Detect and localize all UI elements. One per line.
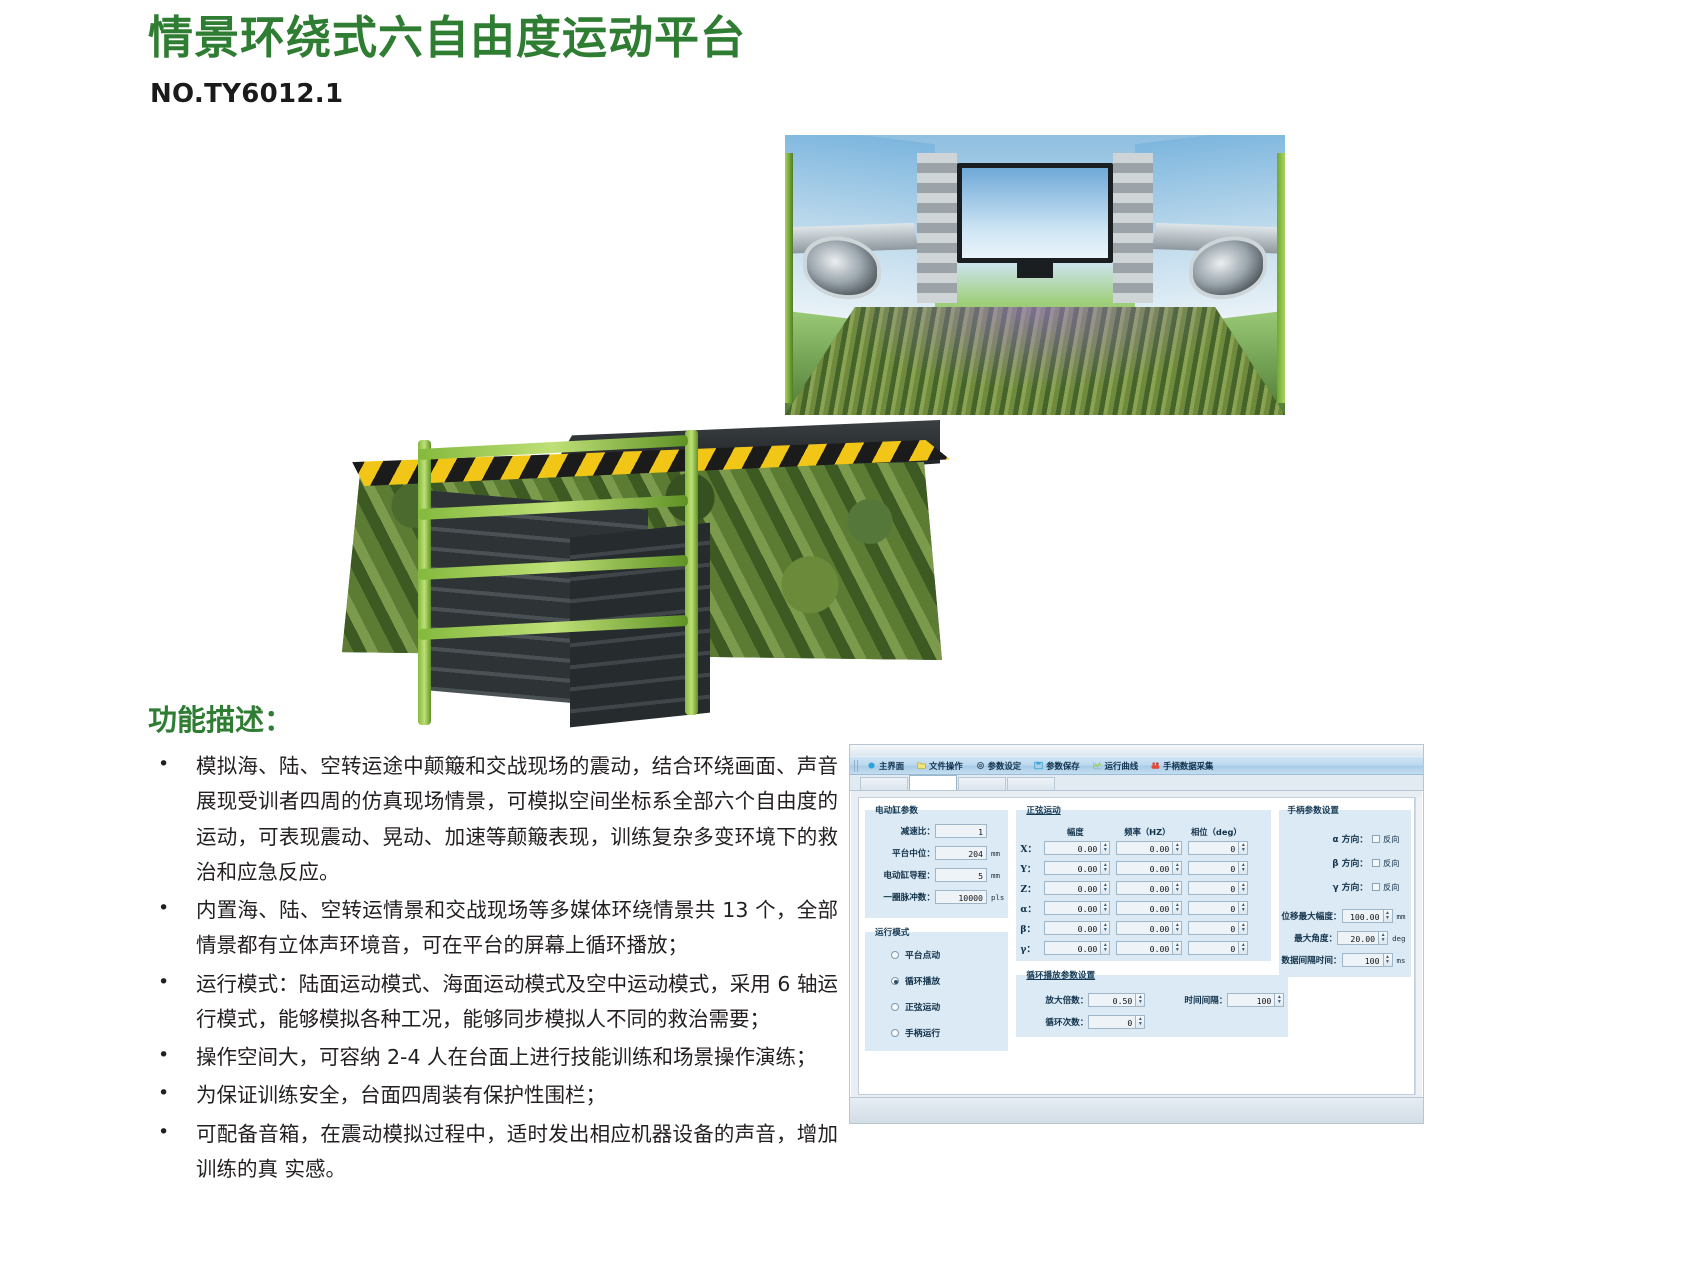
phase-value[interactable]: 0: [1188, 881, 1239, 895]
center-screen: [957, 163, 1113, 263]
rail-top-bar: [418, 435, 688, 460]
frequency-value[interactable]: 0.00: [1116, 841, 1173, 855]
frequency-value[interactable]: 0.00: [1116, 941, 1173, 955]
radio-label: 正弦运动: [905, 1000, 940, 1013]
vertical-scrollbar[interactable]: [1415, 797, 1422, 1095]
joystick-icon: [1151, 761, 1160, 770]
field-label: 减速比：: [869, 825, 935, 837]
sine-motion-group: 正弦运动 幅度 频率（HZ） 相位（deg） X： 0.00▲▼ 0.00▲▼ …: [1016, 804, 1271, 961]
radio-label: 手柄运行: [905, 1026, 940, 1039]
spinner-icon[interactable]: ▲▼: [1101, 881, 1110, 895]
toolbar-item-run-curve[interactable]: 运行曲线: [1088, 759, 1144, 773]
frequency-stepper[interactable]: 0.00▲▼: [1116, 901, 1182, 915]
checkbox-label: 反向: [1383, 881, 1399, 893]
rail-post-left: [418, 440, 431, 725]
field-pulses-per-revolution: 一圈脉冲数： 10000 pls: [869, 890, 1004, 904]
list-item: 模拟海、陆、空转运途中颠簸和交战现场的震动，结合环绕画面、声音展现受训者四周的仿…: [148, 749, 838, 890]
field-label: 平台中位：: [869, 847, 935, 859]
spinner-icon[interactable]: ▲▼: [1173, 941, 1182, 955]
column-header-amplitude: 幅度: [1042, 826, 1108, 838]
amplitude-stepper[interactable]: 0.00▲▼: [1044, 841, 1110, 855]
list-item: 运行模式：陆面运动模式、海面运动模式及空中运动模式，采用 6 轴运行模式，能够模…: [148, 967, 838, 1038]
checkbox-label: 反向: [1383, 857, 1399, 869]
axis-label: Y：: [1020, 861, 1038, 875]
loop-params-legend: 循环播放参数设置: [1024, 969, 1097, 981]
radio-indicator: [891, 1029, 899, 1037]
spinner-icon[interactable]: ▲▼: [1101, 941, 1110, 955]
phase-stepper[interactable]: 0▲▼: [1188, 941, 1248, 955]
tab-1[interactable]: [860, 777, 908, 790]
radio-indicator: [891, 951, 899, 959]
app-content-area: 电动缸参数 减速比： 1 平台中位： 204 mm 电动缸导程： 5 mm: [858, 797, 1415, 1095]
field-unit: pls: [991, 893, 1004, 902]
left-screen: [785, 135, 935, 329]
spinner-icon[interactable]: ▲▼: [1239, 881, 1248, 895]
right-column: 手柄参数设置 α 方向： 反向 β 方向： 反向 γ 方向： 反向: [1279, 804, 1411, 1088]
model-number: NO.TY6012.1: [150, 79, 746, 109]
checkbox-beta-reverse[interactable]: β 方向： 反向: [1281, 856, 1399, 869]
spinner-icon[interactable]: ▲▼: [1173, 841, 1182, 855]
save-icon: [1034, 761, 1043, 770]
spinner-icon[interactable]: ▲▼: [1379, 931, 1388, 945]
frequency-stepper[interactable]: 0.00▲▼: [1116, 881, 1182, 895]
toolbar-label: 主界面: [879, 760, 904, 772]
table-row: β： 0.00▲▼ 0.00▲▼ 0▲▼: [1020, 921, 1267, 935]
checkbox-label: 反向: [1383, 833, 1399, 845]
spinner-icon[interactable]: ▲▼: [1239, 861, 1248, 875]
field-data-interval-time: 数据间隔时间： 100▲▼ ms: [1281, 953, 1405, 967]
list-item: 可配备音箱，在震动模拟过程中，适时发出相应机器设备的声音，增加训练的真 实感。: [148, 1117, 838, 1188]
rail-post-right: [685, 430, 698, 715]
spinner-icon[interactable]: ▲▼: [1239, 921, 1248, 935]
field-reduction-ratio: 减速比： 1: [869, 824, 1004, 838]
toolbar-item-joystick-capture[interactable]: 手柄数据采集: [1146, 759, 1218, 773]
function-description-heading: 功能描述：: [148, 697, 838, 739]
axis-label: X：: [1020, 841, 1038, 855]
toolbar-label: 运行曲线: [1105, 760, 1139, 772]
toolbar-label: 参数设定: [988, 760, 1022, 772]
field-value[interactable]: 0.50: [1088, 993, 1136, 1007]
field-label: 循环次数：: [1026, 1016, 1088, 1028]
list-item: 为保证训练安全，台面四周装有保护性围栏；: [148, 1078, 838, 1113]
direction-label: γ 方向：: [1333, 880, 1368, 893]
spinner-icon[interactable]: ▲▼: [1173, 881, 1182, 895]
list-item: 内置海、陆、空转运情景和交战现场等多媒体环绕情景共 13 个，全部情景都有立体声…: [148, 893, 838, 964]
phase-value[interactable]: 0: [1188, 941, 1239, 955]
amplitude-stepper[interactable]: 0.00▲▼: [1044, 901, 1110, 915]
field-value[interactable]: 10000: [935, 890, 987, 904]
axis-label: α：: [1020, 901, 1038, 915]
toolbar-item-main-screen[interactable]: 主界面: [862, 759, 909, 773]
field-unit: ms: [1397, 956, 1406, 965]
field-value[interactable]: 204: [935, 846, 987, 860]
loop-row-1: 放大倍数： 0.50▲▼ 时间间隔： 100▲▼: [1026, 993, 1284, 1007]
axis-label: β：: [1020, 921, 1038, 935]
spinner-icon[interactable]: ▲▼: [1239, 901, 1248, 915]
control-software-window: 主界面 文件操作 参数设定 参数保存: [849, 744, 1424, 1124]
radio-label: 循环播放: [905, 974, 940, 987]
interval-stepper[interactable]: 100▲▼: [1227, 993, 1284, 1007]
amplitude-value[interactable]: 0.00: [1044, 921, 1101, 935]
app-toolbar: 主界面 文件操作 参数设定 参数保存: [850, 756, 1423, 775]
loop-row-2: 循环次数： 0▲▼: [1026, 1015, 1284, 1029]
amplitude-stepper[interactable]: 0.00▲▼: [1044, 881, 1110, 895]
radio-sine-motion[interactable]: 正弦运动: [891, 1000, 1004, 1013]
field-value[interactable]: 100.00: [1342, 909, 1384, 923]
table-row: α： 0.00▲▼ 0.00▲▼ 0▲▼: [1020, 901, 1267, 915]
phase-value[interactable]: 0: [1188, 841, 1239, 855]
phase-stepper[interactable]: 0▲▼: [1188, 841, 1248, 855]
tab-4[interactable]: [1007, 777, 1055, 790]
phase-stepper[interactable]: 0▲▼: [1188, 921, 1248, 935]
field-unit: mm: [991, 849, 1000, 858]
field-unit: mm: [1397, 912, 1406, 921]
radio-platform-jog[interactable]: 平台点动: [891, 948, 1004, 961]
spinner-icon[interactable]: ▲▼: [1384, 909, 1393, 923]
status-bar: [850, 1097, 1423, 1123]
radio-indicator: [891, 1003, 899, 1011]
right-screen: [1135, 135, 1285, 329]
frequency-value[interactable]: 0.00: [1116, 861, 1173, 875]
sine-column-headers: 幅度 频率（HZ） 相位（deg）: [1042, 826, 1267, 838]
column-header-frequency: 频率（HZ）: [1114, 826, 1180, 838]
loop-params-group: 循环播放参数设置 放大倍数： 0.50▲▼ 时间间隔： 100▲▼ 循环次数： …: [1016, 969, 1288, 1037]
field-label: 最大角度：: [1294, 932, 1337, 944]
page-header: 情景环绕式六自由度运动平台 NO.TY6012.1: [148, 14, 746, 109]
field-label: 时间间隔：: [1161, 994, 1227, 1006]
column-header-phase: 相位（deg）: [1186, 826, 1246, 838]
axis-label: Z：: [1020, 881, 1038, 895]
spinner-icon[interactable]: ▲▼: [1173, 901, 1182, 915]
frequency-stepper[interactable]: 0.00▲▼: [1116, 861, 1182, 875]
field-value[interactable]: 5: [935, 868, 987, 882]
sine-motion-legend: 正弦运动: [1024, 804, 1062, 816]
max-displacement-stepper[interactable]: 100.00▲▼: [1342, 909, 1393, 923]
green-frame-post-right: [1277, 153, 1285, 403]
spinner-icon[interactable]: ▲▼: [1173, 921, 1182, 935]
safety-handrail: [380, 440, 740, 740]
tab-2[interactable]: [909, 775, 957, 790]
spinner-icon[interactable]: ▲▼: [1384, 953, 1393, 967]
field-label: 位移最大幅度：: [1281, 910, 1341, 922]
axis-label: γ：: [1020, 941, 1038, 955]
phase-value[interactable]: 0: [1188, 861, 1239, 875]
chart-line-icon: [1093, 761, 1102, 770]
run-mode-group: 运行模式 平台点动 循环播放 正弦运动 手柄运行: [865, 926, 1008, 1051]
table-row: X： 0.00▲▼ 0.00▲▼ 0▲▼: [1020, 841, 1267, 855]
spinner-icon[interactable]: ▲▼: [1101, 841, 1110, 855]
page-title: 情景环绕式六自由度运动平台: [148, 14, 746, 61]
amplitude-value[interactable]: 0.00: [1044, 881, 1101, 895]
field-label: 放大倍数：: [1026, 994, 1088, 1006]
amplitude-value[interactable]: 0.00: [1044, 861, 1101, 875]
field-max-angle: 最大角度： 20.00▲▼ deg: [1281, 931, 1405, 945]
spinner-icon[interactable]: ▲▼: [1239, 941, 1248, 955]
amplitude-stepper[interactable]: 0.00▲▼: [1044, 921, 1110, 935]
radio-label: 平台点动: [905, 948, 940, 961]
spinner-icon[interactable]: ▲▼: [1136, 1015, 1145, 1029]
phase-value[interactable]: 0: [1188, 901, 1239, 915]
surround-screens-photo: [785, 135, 1285, 415]
frequency-value[interactable]: 0.00: [1116, 921, 1173, 935]
toolbar-item-param-setting[interactable]: 参数设定: [971, 759, 1027, 773]
frequency-value[interactable]: 0.00: [1116, 881, 1173, 895]
field-unit: deg: [1392, 934, 1405, 943]
field-value[interactable]: 20.00: [1337, 931, 1379, 945]
field-label: 电动缸导程：: [869, 869, 935, 881]
field-value[interactable]: 100: [1342, 953, 1384, 967]
checkbox-icon[interactable]: [1372, 883, 1380, 891]
function-description-section: 功能描述： 模拟海、陆、空转运途中颠簸和交战现场的震动，结合环绕画面、声音展现受…: [148, 697, 838, 1190]
screen-pillar-right: [1113, 153, 1153, 303]
table-row: Z： 0.00▲▼ 0.00▲▼ 0▲▼: [1020, 881, 1267, 895]
field-platform-midpoint: 平台中位： 204 mm: [869, 846, 1004, 860]
field-label: 数据间隔时间：: [1281, 954, 1341, 966]
tab-strip: [850, 775, 1423, 791]
checkbox-icon[interactable]: [1372, 835, 1380, 843]
cylinder-params-legend: 电动缸参数: [873, 804, 920, 816]
field-value[interactable]: 100: [1227, 993, 1275, 1007]
window-title-bar: [850, 745, 1423, 756]
radio-loop-playback[interactable]: 循环播放: [891, 974, 1004, 987]
amplitude-value[interactable]: 0.00: [1044, 941, 1101, 955]
gear-icon: [976, 761, 985, 770]
home-dot-icon: [867, 761, 876, 770]
field-value[interactable]: 1: [935, 824, 987, 838]
toolbar-drag-handle[interactable]: [854, 760, 859, 772]
amplitude-stepper[interactable]: 0.00▲▼: [1044, 941, 1110, 955]
phase-stepper[interactable]: 0▲▼: [1188, 881, 1248, 895]
toolbar-item-param-save[interactable]: 参数保存: [1029, 759, 1085, 773]
cylinder-params-group: 电动缸参数 减速比： 1 平台中位： 204 mm 电动缸导程： 5 mm: [865, 804, 1008, 918]
handle-params-legend: 手柄参数设置: [1285, 804, 1341, 816]
field-cylinder-lead: 电动缸导程： 5 mm: [869, 868, 1004, 882]
frequency-stepper[interactable]: 0.00▲▼: [1116, 921, 1182, 935]
radio-indicator: [891, 977, 899, 985]
field-value[interactable]: 0: [1088, 1015, 1136, 1029]
handle-params-group: 手柄参数设置 α 方向： 反向 β 方向： 反向 γ 方向： 反向: [1279, 804, 1411, 977]
folder-icon: [917, 761, 926, 770]
function-bullet-list: 模拟海、陆、空转运途中颠簸和交战现场的震动，结合环绕画面、声音展现受训者四周的仿…: [148, 749, 838, 1187]
toolbar-label: 参数保存: [1046, 760, 1080, 772]
checkbox-alpha-reverse[interactable]: α 方向： 反向: [1281, 832, 1399, 845]
middle-column: 正弦运动 幅度 频率（HZ） 相位（deg） X： 0.00▲▼ 0.00▲▼ …: [1016, 804, 1271, 1088]
amplitude-stepper[interactable]: 0.00▲▼: [1044, 861, 1110, 875]
list-item: 操作空间大，可容纳 2-4 人在台面上进行技能训练和场景操作演练；: [148, 1040, 838, 1075]
phase-value[interactable]: 0: [1188, 921, 1239, 935]
checkbox-gamma-reverse[interactable]: γ 方向： 反向: [1281, 880, 1399, 893]
data-interval-stepper[interactable]: 100▲▼: [1342, 953, 1393, 967]
toolbar-item-file-ops[interactable]: 文件操作: [912, 759, 968, 773]
max-angle-stepper[interactable]: 20.00▲▼: [1337, 931, 1388, 945]
spinner-icon[interactable]: ▲▼: [1101, 921, 1110, 935]
table-row: γ： 0.00▲▼ 0.00▲▼ 0▲▼: [1020, 941, 1267, 955]
frequency-value[interactable]: 0.00: [1116, 901, 1173, 915]
run-mode-legend: 运行模式: [873, 926, 911, 938]
spinner-icon[interactable]: ▲▼: [1136, 993, 1145, 1007]
spinner-icon[interactable]: ▲▼: [1101, 861, 1110, 875]
magnification-stepper[interactable]: 0.50▲▼: [1088, 993, 1145, 1007]
motion-platform-photo: [320, 420, 960, 660]
direction-label: β 方向：: [1332, 856, 1368, 869]
product-photo: [310, 130, 1310, 670]
direction-label: α 方向：: [1333, 832, 1369, 845]
amplitude-value[interactable]: 0.00: [1044, 841, 1101, 855]
phase-stepper[interactable]: 0▲▼: [1188, 861, 1248, 875]
phase-stepper[interactable]: 0▲▼: [1188, 901, 1248, 915]
field-unit: mm: [991, 871, 1000, 880]
spinner-icon[interactable]: ▲▼: [1101, 901, 1110, 915]
left-column: 电动缸参数 减速比： 1 平台中位： 204 mm 电动缸导程： 5 mm: [865, 804, 1008, 1088]
frequency-stepper[interactable]: 0.00▲▼: [1116, 841, 1182, 855]
toolbar-label: 文件操作: [929, 760, 963, 772]
toolbar-label: 手柄数据采集: [1163, 760, 1213, 772]
spinner-icon[interactable]: ▲▼: [1239, 841, 1248, 855]
frequency-stepper[interactable]: 0.00▲▼: [1116, 941, 1182, 955]
amplitude-value[interactable]: 0.00: [1044, 901, 1101, 915]
table-row: Y： 0.00▲▼ 0.00▲▼ 0▲▼: [1020, 861, 1267, 875]
grass-floor-projection: [785, 307, 1285, 415]
spinner-icon[interactable]: ▲▼: [1173, 861, 1182, 875]
green-frame-post-left: [785, 153, 793, 403]
screen-pillar-left: [917, 153, 957, 303]
radio-joystick-run[interactable]: 手柄运行: [891, 1026, 1004, 1039]
loop-count-stepper[interactable]: 0▲▼: [1088, 1015, 1145, 1029]
checkbox-icon[interactable]: [1372, 859, 1380, 867]
tab-3[interactable]: [958, 777, 1006, 790]
field-label: 一圈脉冲数：: [869, 891, 935, 903]
field-max-displacement: 位移最大幅度： 100.00▲▼ mm: [1281, 909, 1405, 923]
